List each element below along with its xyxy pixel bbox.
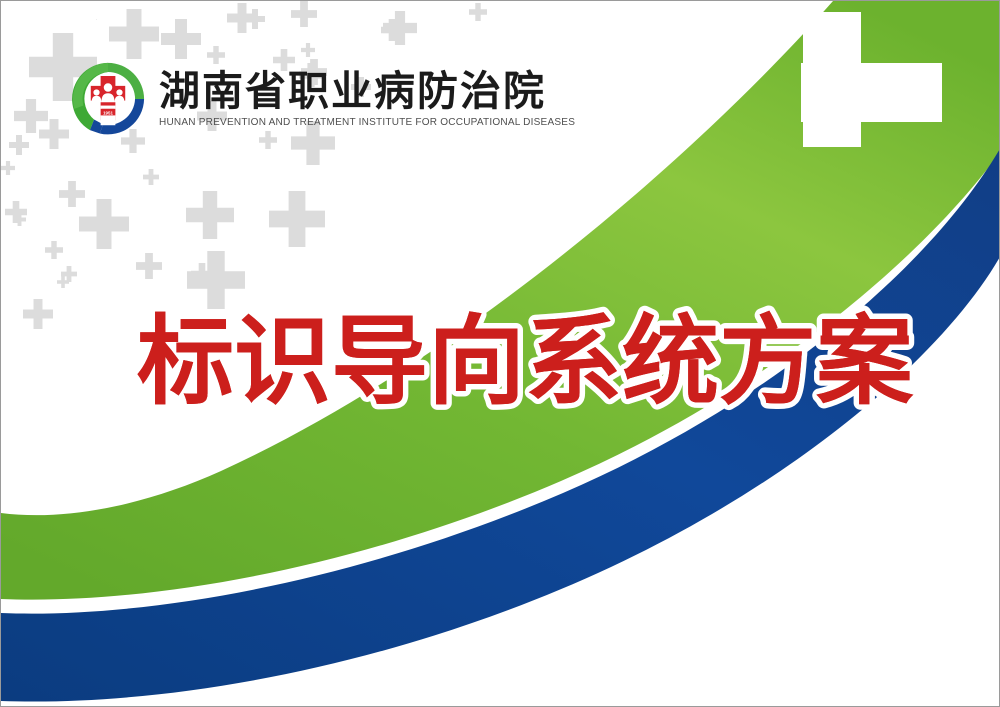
- main-title-text: 标识导向系统方案: [137, 309, 914, 416]
- organization-logo-lockup: 1951 湖南省职业病防治院 HUNAN PREVENTION AND TREA…: [67, 58, 581, 140]
- cover-page: 1951 湖南省职业病防治院 HUNAN PREVENTION AND TREA…: [0, 0, 1000, 707]
- organization-name-english: HUNAN PREVENTION AND TREATMENT INSTITUTE…: [159, 117, 575, 128]
- main-title-container: 标识导向系统方案 标识导向系统方案: [137, 307, 897, 417]
- organization-name-block: 湖南省职业病防治院 HUNAN PREVENTION AND TREATMENT…: [159, 70, 581, 127]
- main-title-artwork: 标识导向系统方案 标识导向系统方案: [137, 307, 897, 417]
- organization-name-chinese: 湖南省职业病防治院: [159, 70, 581, 113]
- emblem-year: 1951: [103, 110, 113, 115]
- hospital-emblem-icon: 1951: [67, 58, 149, 140]
